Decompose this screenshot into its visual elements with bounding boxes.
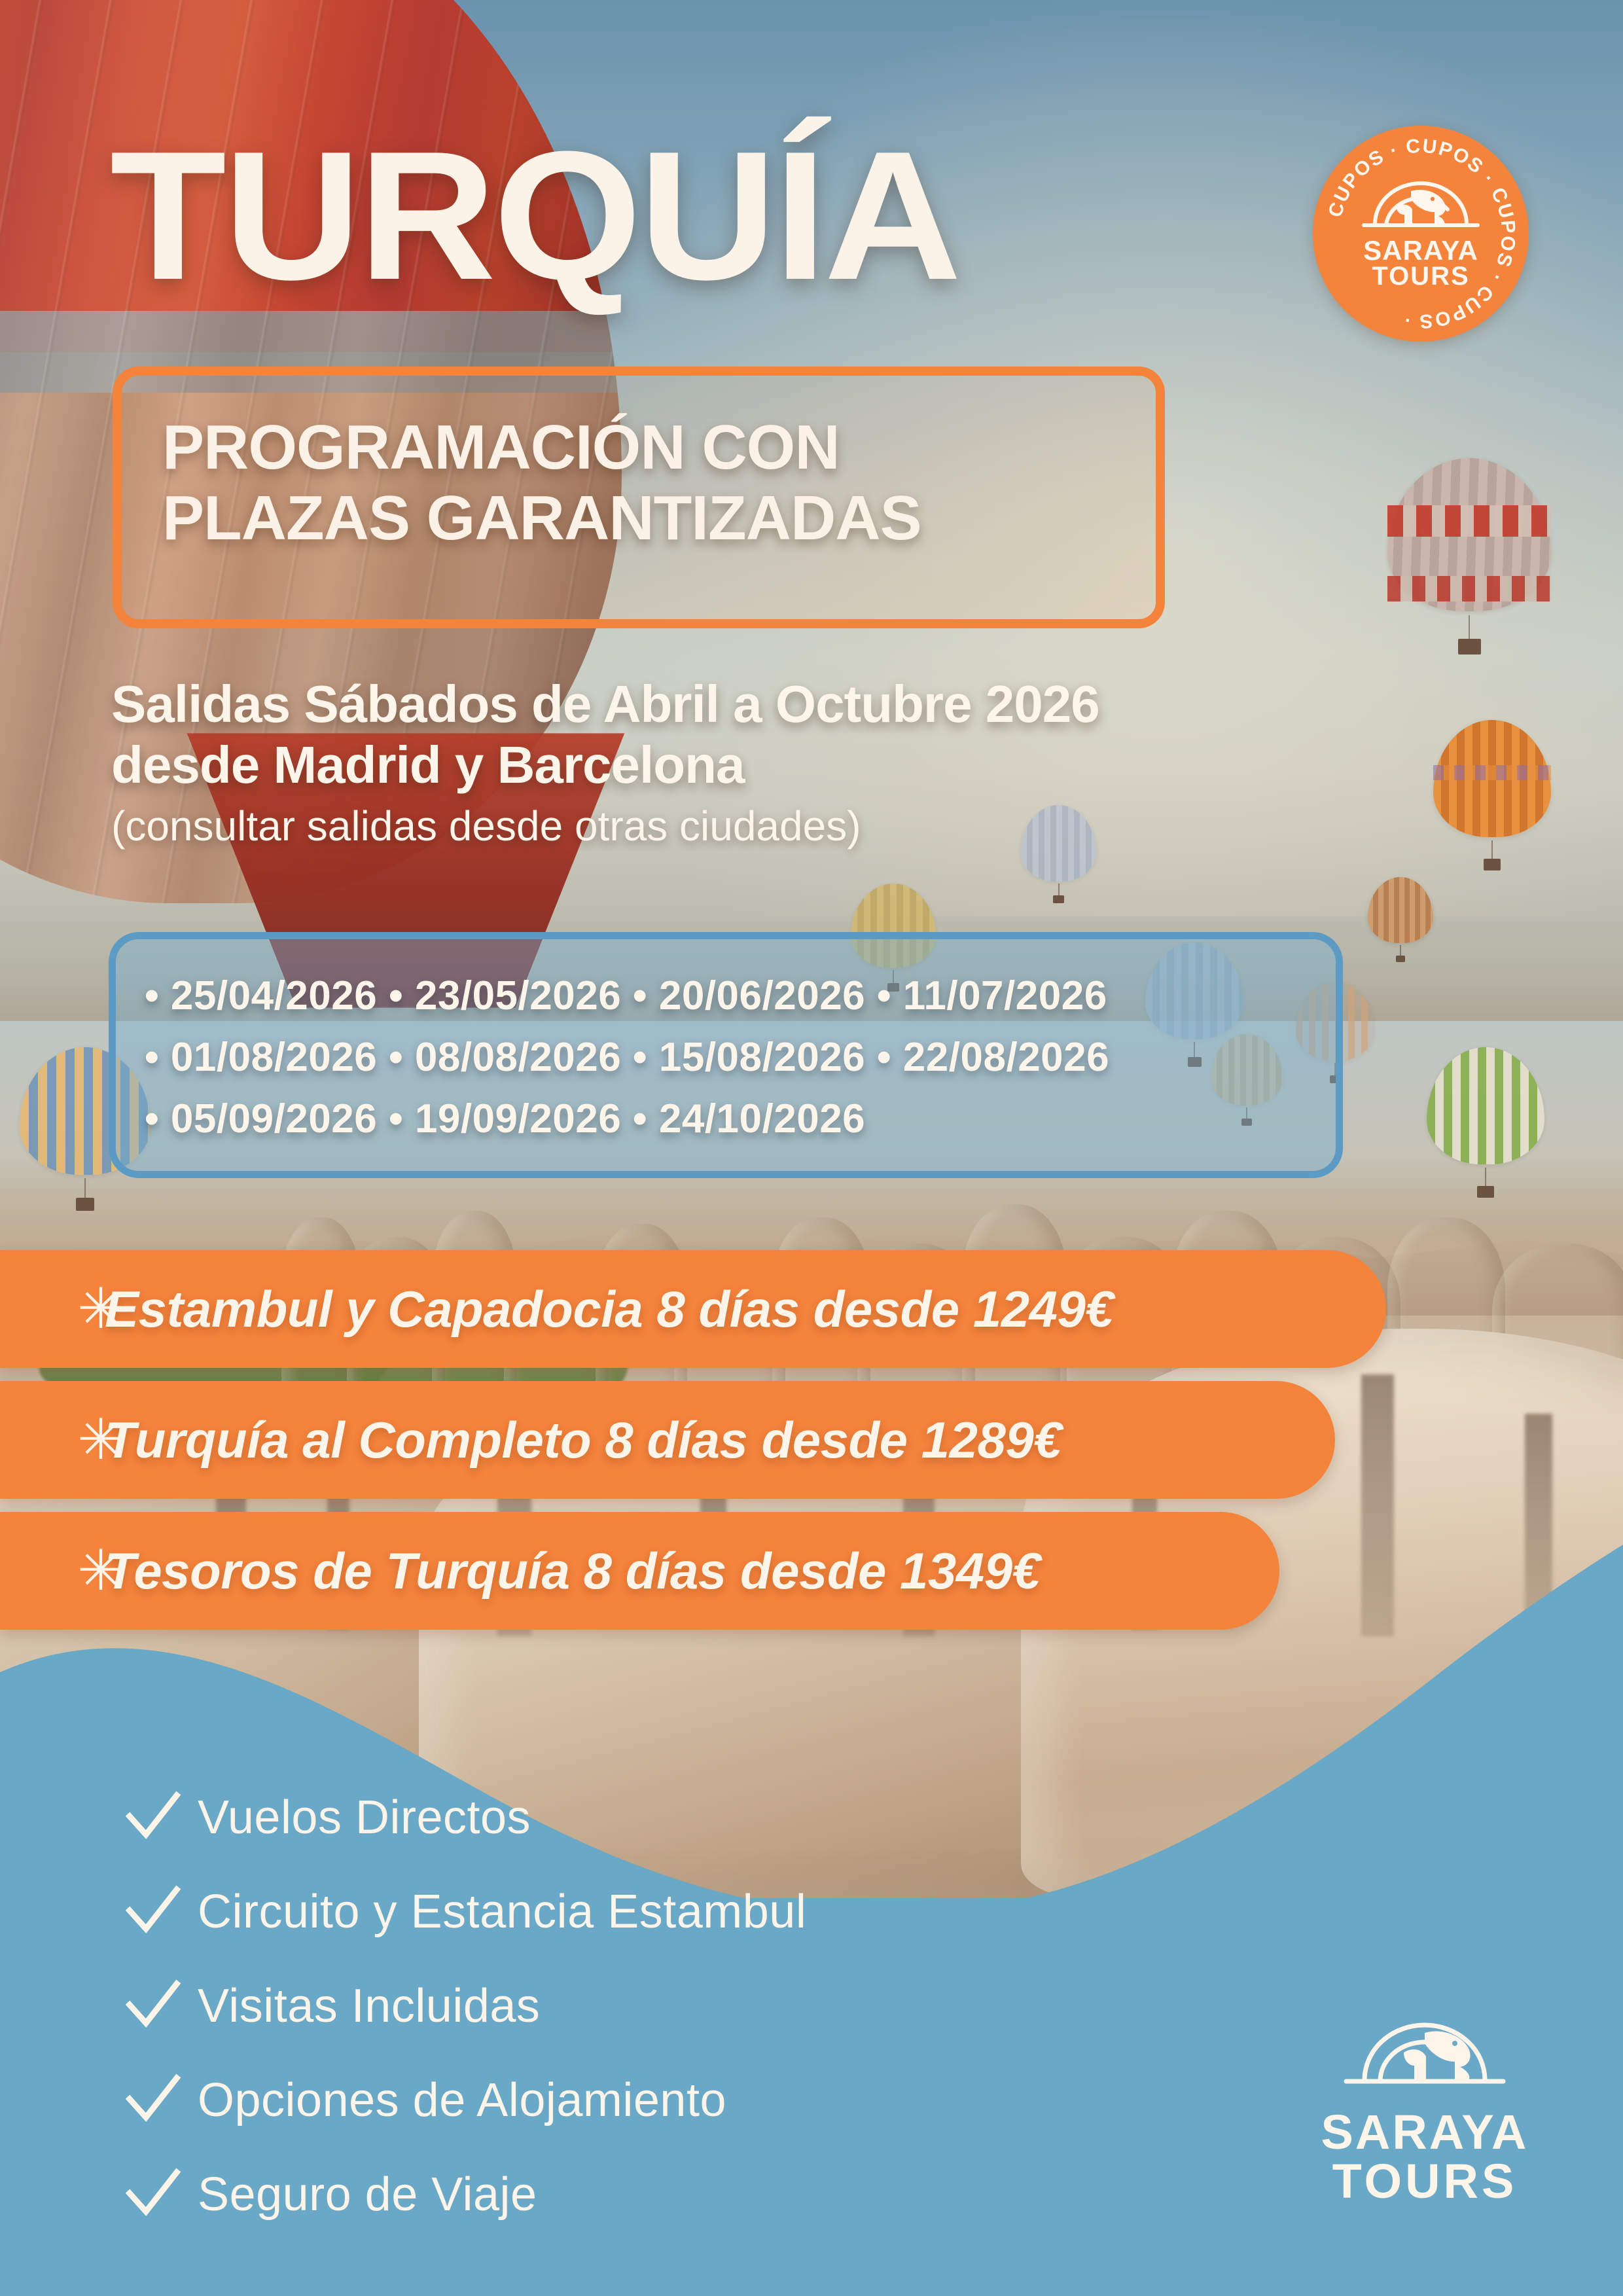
dates-row: • 01/08/2026 • 08/08/2026 • 15/08/2026 •… bbox=[145, 1027, 1336, 1088]
footer-logo-line2: TOURS bbox=[1284, 2157, 1565, 2206]
list-item: Opciones de Alojamiento bbox=[123, 2062, 1105, 2139]
feature-label: Opciones de Alojamiento bbox=[198, 2077, 726, 2124]
offer-banner-text: Tesoros de Turquía 8 días desde 1349€ bbox=[0, 1541, 1040, 1601]
check-icon bbox=[123, 1882, 183, 1942]
offer-banner-text: Estambul y Capadocia 8 días desde 1249€ bbox=[0, 1280, 1113, 1339]
badge-brand-line2: TOURS bbox=[1313, 264, 1529, 289]
check-icon bbox=[123, 1787, 183, 1848]
departures-line-1: Salidas Sábados de Abril a Octubre 2026 bbox=[111, 674, 1099, 735]
offer-banner[interactable]: ✳ Estambul y Capadocia 8 días desde 1249… bbox=[0, 1250, 1386, 1368]
star-icon: ✳ bbox=[77, 1412, 124, 1468]
page-title: TURQUÍA bbox=[110, 124, 959, 308]
promo-callout-box: PROGRAMACIÓN CON PLAZAS GARANTIZADAS bbox=[113, 367, 1165, 628]
arch-falcon-logo-icon bbox=[1327, 2001, 1523, 2100]
list-item: Visitas Incluidas bbox=[123, 1967, 1105, 2045]
offer-banner[interactable]: ✳ Turquía al Completo 8 días desde 1289€ bbox=[0, 1381, 1335, 1499]
feature-label: Circuito y Estancia Estambul bbox=[198, 1888, 806, 1935]
star-icon: ✳ bbox=[77, 1281, 124, 1337]
badge-brand-text: SARAYA TOURS bbox=[1313, 237, 1529, 289]
offer-banner-bar[interactable]: ✳ Turquía al Completo 8 días desde 1289€ bbox=[0, 1381, 1335, 1499]
cupos-badge: CUPOS · CUPOS · CUPOS · CUPOS · SARAYA T… bbox=[1313, 126, 1529, 342]
dates-row: • 25/04/2026 • 23/05/2026 • 20/06/2026 •… bbox=[145, 965, 1336, 1027]
dates-row: • 05/09/2026 • 19/09/2026 • 24/10/2026 bbox=[145, 1088, 1336, 1150]
badge-brand-line1: SARAYA bbox=[1363, 235, 1478, 266]
hot-air-balloon-small bbox=[1427, 1047, 1544, 1198]
features-list: Vuelos Directos Circuito y Estancia Esta… bbox=[123, 1779, 1105, 2250]
offer-banner[interactable]: ✳ Tesoros de Turquía 8 días desde 1349€ bbox=[0, 1512, 1279, 1630]
promo-line-1: PROGRAMACIÓN CON bbox=[162, 412, 1116, 483]
offer-banner-text: Turquía al Completo 8 días desde 1289€ bbox=[0, 1410, 1061, 1470]
promo-line-2: PLAZAS GARANTIZADAS bbox=[162, 483, 1116, 554]
hot-air-balloon-small bbox=[1387, 458, 1551, 655]
feature-label: Seguro de Viaje bbox=[198, 2171, 537, 2218]
offer-banner-bar[interactable]: ✳ Tesoros de Turquía 8 días desde 1349€ bbox=[0, 1512, 1279, 1630]
departures-block: Salidas Sábados de Abril a Octubre 2026 … bbox=[111, 674, 1099, 851]
list-item: Vuelos Directos bbox=[123, 1779, 1105, 1856]
list-item: Seguro de Viaje bbox=[123, 2156, 1105, 2233]
offer-banner-bar[interactable]: ✳ Estambul y Capadocia 8 días desde 1249… bbox=[0, 1250, 1386, 1368]
hot-air-balloon-small bbox=[1368, 877, 1433, 962]
footer-logo-line1: SARAYA bbox=[1284, 2108, 1565, 2157]
footer-logo: SARAYA TOURS bbox=[1284, 2001, 1565, 2206]
badge-ring-and-logo: CUPOS · CUPOS · CUPOS · CUPOS · bbox=[1313, 126, 1529, 342]
dates-box: • 25/04/2026 • 23/05/2026 • 20/06/2026 •… bbox=[109, 932, 1343, 1178]
feature-label: Vuelos Directos bbox=[198, 1794, 531, 1841]
poster-root: TURQUÍA CUPOS · CUPOS · CUPOS · CUPOS · bbox=[0, 0, 1623, 2296]
star-icon: ✳ bbox=[77, 1543, 124, 1599]
check-icon bbox=[123, 2070, 183, 2130]
check-icon bbox=[123, 2164, 183, 2225]
svg-text:CUPOS · CUPOS · CUPOS · CUPOS: CUPOS · CUPOS · CUPOS · CUPOS · bbox=[1325, 135, 1520, 332]
feature-label: Visitas Incluidas bbox=[198, 1982, 540, 2030]
check-icon bbox=[123, 1976, 183, 2036]
departures-note: (consultar salidas desde otras ciudades) bbox=[111, 801, 1099, 852]
list-item: Circuito y Estancia Estambul bbox=[123, 1873, 1105, 1950]
hot-air-balloon-small bbox=[1433, 720, 1551, 870]
departures-line-2: desde Madrid y Barcelona bbox=[111, 735, 1099, 796]
